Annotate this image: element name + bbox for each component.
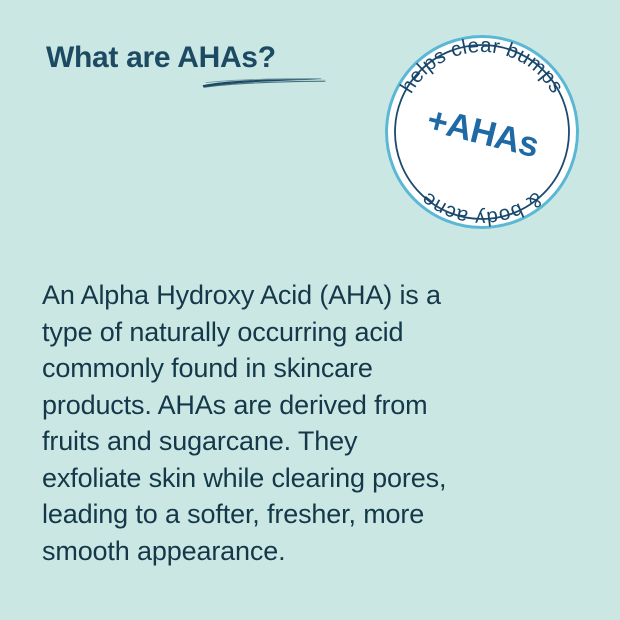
- body-line: An Alpha Hydroxy Acid (AHA) is a: [42, 277, 562, 314]
- body-line: type of naturally occurring acid: [42, 314, 562, 351]
- body-line: products. AHAs are derived from: [42, 387, 562, 424]
- body-line: fruits and sugarcane. They: [42, 423, 562, 460]
- body-line: exfoliate skin while clearing pores,: [42, 460, 562, 497]
- body-line: leading to a softer, fresher, more: [42, 496, 562, 533]
- info-card: What are AHAs? helps clear bumps: [0, 0, 620, 620]
- hand-drawn-underline-icon: [201, 76, 329, 90]
- heading-block: What are AHAs?: [46, 40, 386, 100]
- body-copy: An Alpha Hydroxy Acid (AHA) is a type of…: [42, 277, 562, 569]
- badge-stamp: helps clear bumps & body acne +AHAs: [382, 32, 582, 232]
- body-line: commonly found in skincare: [42, 350, 562, 387]
- body-line: smooth appearance.: [42, 533, 562, 570]
- body-paragraph: An Alpha Hydroxy Acid (AHA) is a type of…: [42, 277, 562, 569]
- page-title: What are AHAs?: [46, 40, 386, 76]
